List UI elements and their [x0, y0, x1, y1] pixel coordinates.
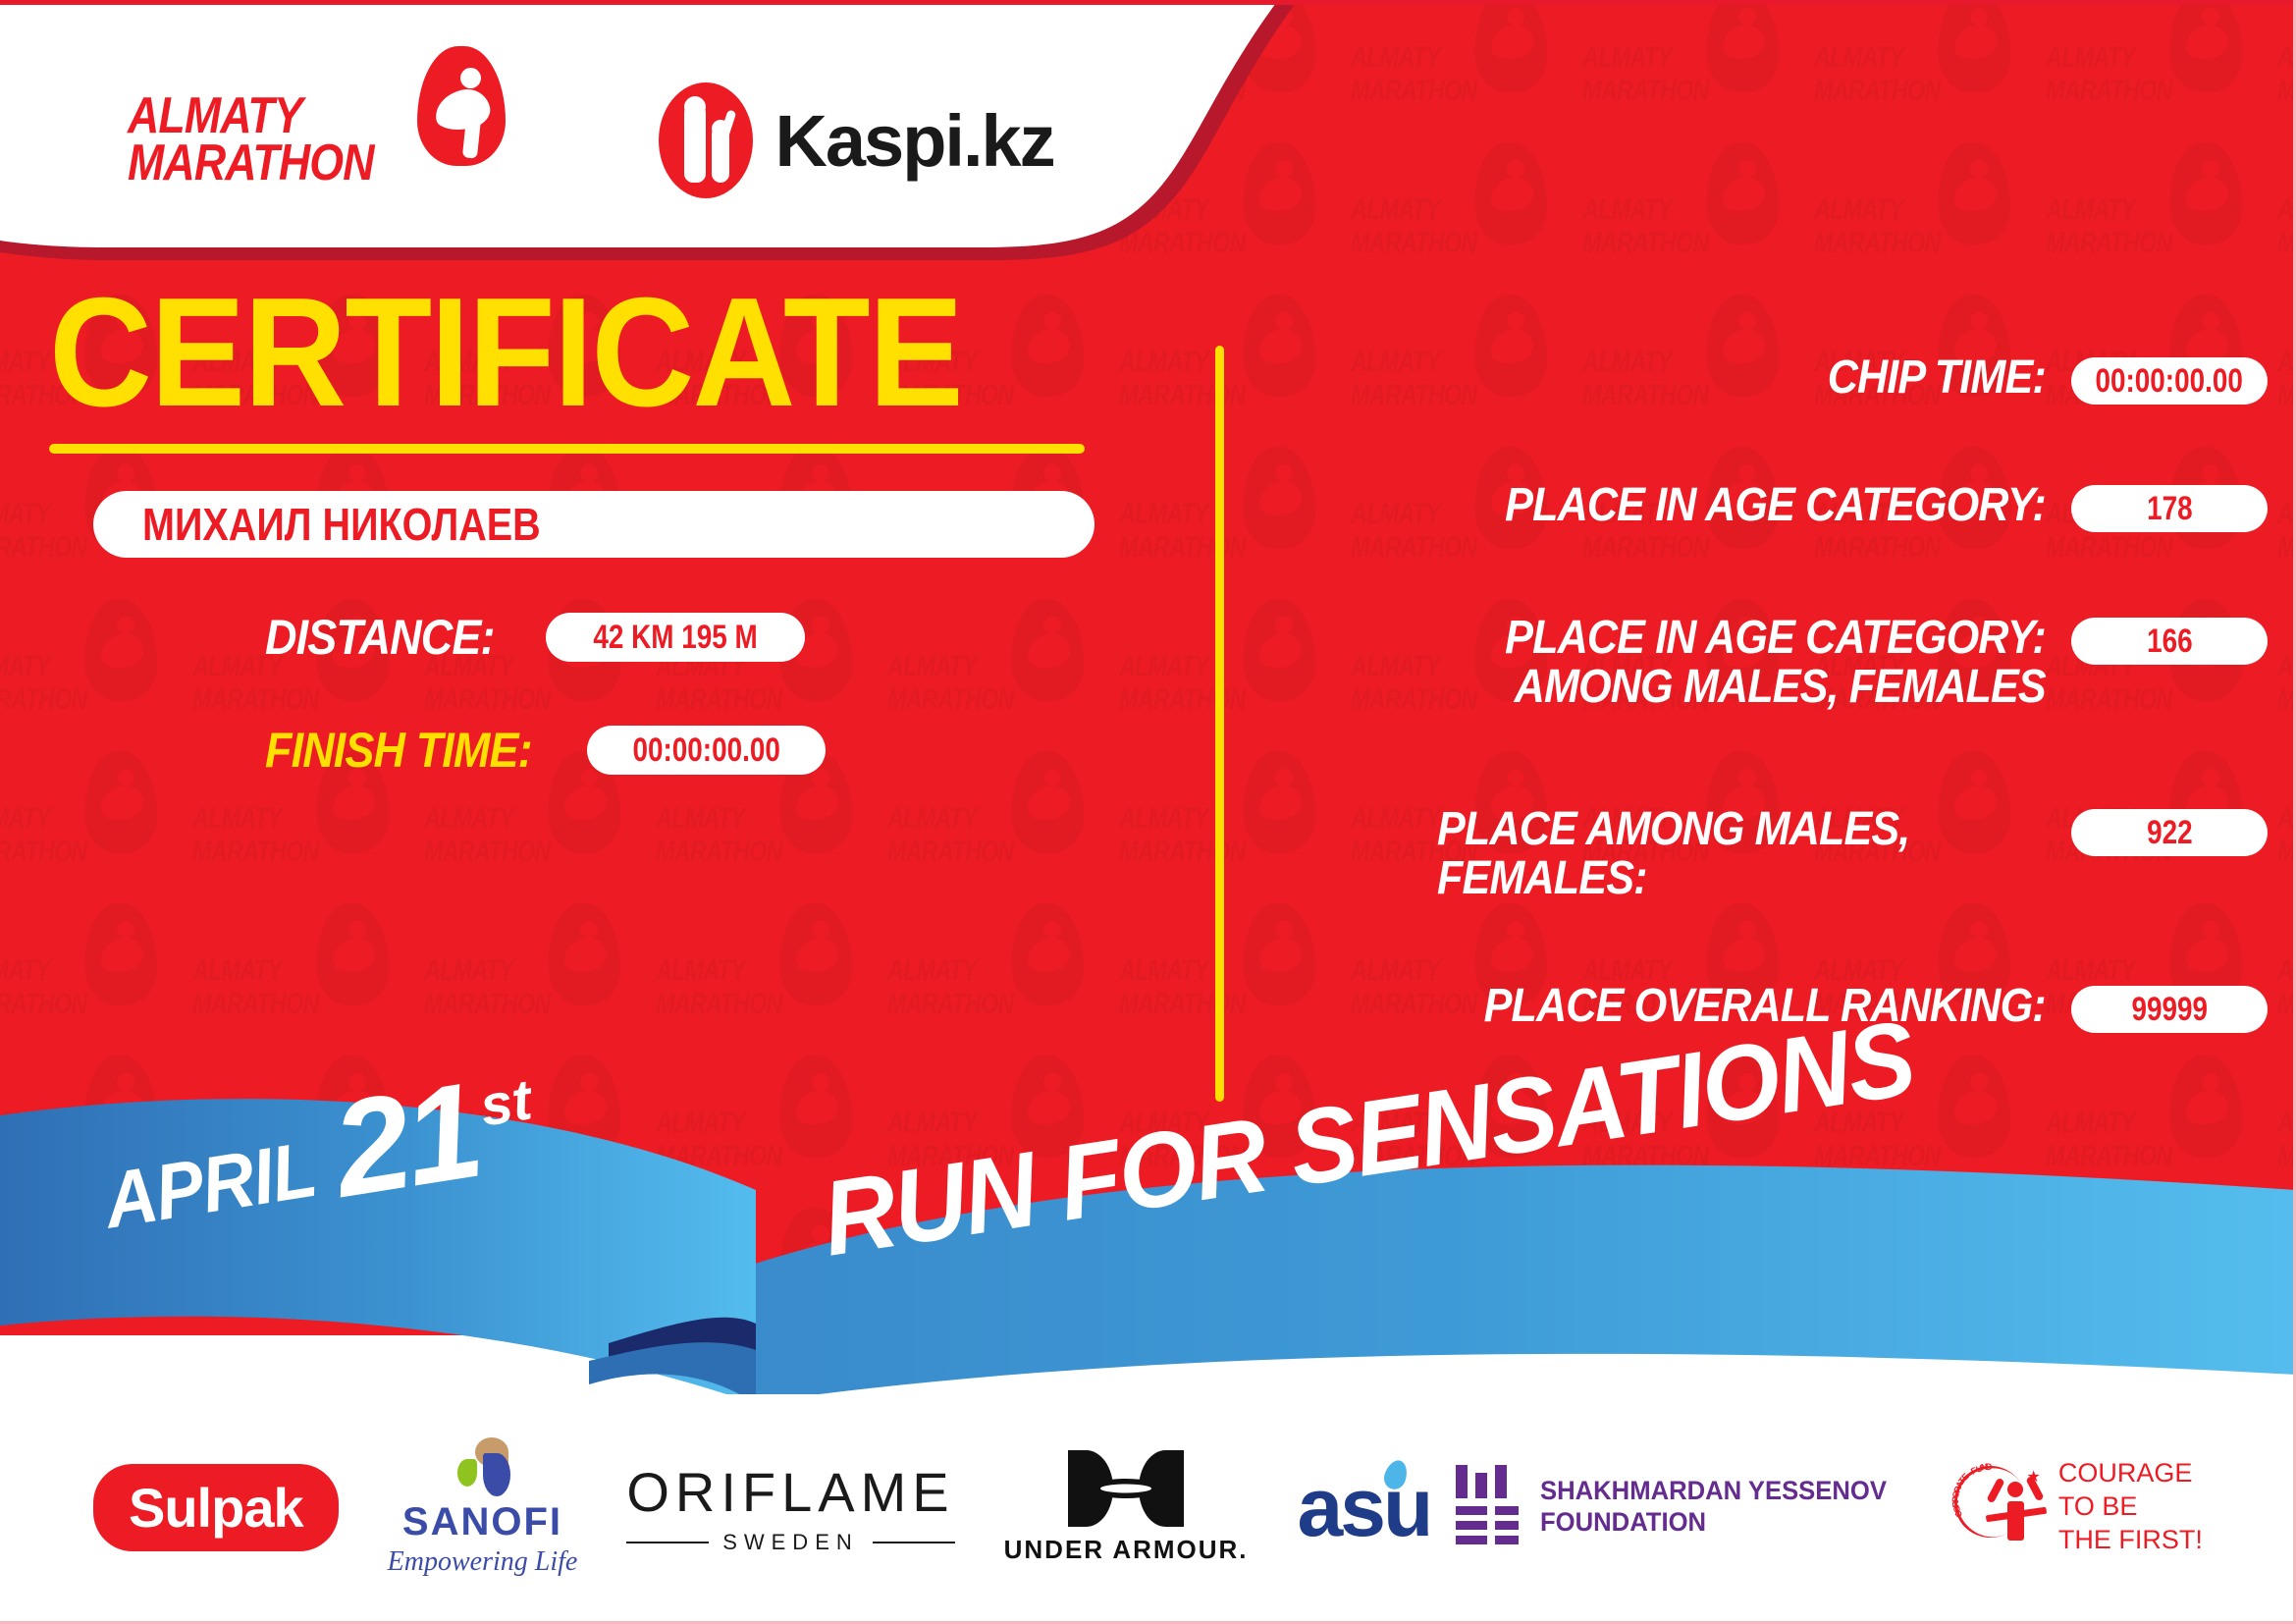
- oriflame-rule-left: [626, 1542, 709, 1543]
- chip-time-label: CHIP TIME:: [1828, 353, 2046, 403]
- almaty-marathon-logo: ALMATY MARATHON: [128, 93, 413, 188]
- place-age-category-label: PLACE IN AGE CATEGORY:: [1505, 481, 2046, 530]
- sponsor-sulpak: Sulpak: [93, 1464, 339, 1551]
- certificate-left-panel: CERTIFICATE МИХАИЛ НИКОЛАЕВ DISTANCE: 42…: [0, 295, 1178, 1080]
- sponsor-under-armour: UNDER ARMOUR.: [1004, 1450, 1249, 1565]
- distance-label: DISTANCE:: [265, 609, 495, 666]
- watermark-tile: ALMATYMARATHON: [1582, 0, 1789, 137]
- kaspi-people-icon: [659, 82, 753, 198]
- athlete-name-value: МИХАИЛ НИКОЛАЕВ: [142, 498, 541, 551]
- finish-time-value: 00:00:00.00: [632, 731, 779, 770]
- place-age-category-value: 178: [2147, 490, 2193, 528]
- chip-time-value-pill: 00:00:00.00: [2071, 357, 2268, 405]
- place-age-category-gender-row: PLACE IN AGE CATEGORY: AMONG MALES, FEMA…: [1266, 614, 2268, 713]
- yessenov-bars-icon: [1456, 1465, 1521, 1549]
- watermark-tile: ALMATYMARATHON: [1814, 0, 2020, 137]
- under-armour-icon: [1068, 1450, 1184, 1527]
- athlete-name-field: МИХАИЛ НИКОЛАЕВ: [93, 491, 1095, 558]
- oriflame-wordmark: ORIFLAME: [626, 1460, 954, 1524]
- courage-fund-wordmark: COURAGE TO BE THE FIRST!: [2058, 1457, 2203, 1556]
- page-title: CERTIFICATE: [49, 275, 962, 430]
- kaspi-wordmark: Kaspi.kz: [774, 99, 1053, 183]
- event-day-ordinal: st: [476, 1066, 536, 1139]
- watermark-tile: ALMATYMARATHON: [2046, 142, 2252, 290]
- place-age-category-gender-value: 166: [2147, 623, 2193, 661]
- place-age-category-row: PLACE IN AGE CATEGORY: 178: [1266, 481, 2268, 532]
- place-overall-ranking-value: 99999: [2131, 991, 2208, 1029]
- watermark-tile: ALMATYMARATHON: [1814, 142, 2020, 290]
- certificate-page: ALMATYMARATHONALMATYMARATHONALMATYMARATH…: [0, 0, 2296, 1624]
- sponsor-courage-fund: CORPORATE FUND ★ COURAGE TO BE THE FIRST…: [1954, 1457, 2203, 1556]
- finish-time-row: FINISH TIME: 00:00:00.00: [265, 722, 826, 779]
- sponsor-oriflame: ORIFLAME SWEDEN: [626, 1460, 954, 1555]
- distance-value-pill: 42 KM 195 M: [546, 613, 805, 662]
- place-overall-ranking-value-pill: 99999: [2071, 986, 2268, 1033]
- yessenov-wordmark: SHAKHMARDAN YESSENOV FOUNDATION: [1540, 1476, 1887, 1539]
- place-age-category-gender-label: PLACE IN AGE CATEGORY: AMONG MALES, FEMA…: [1505, 614, 2046, 713]
- title-underline-divider: [49, 444, 1085, 454]
- chip-time-row: CHIP TIME: 00:00:00.00: [1266, 353, 2268, 405]
- vertical-divider: [1215, 346, 1224, 1102]
- courage-fund-icon: CORPORATE FUND ★: [1954, 1462, 2045, 1552]
- event-day: 21: [326, 1072, 485, 1210]
- asu-wordmark: asu: [1298, 1466, 1431, 1548]
- finish-time-value-pill: 00:00:00.00: [587, 726, 826, 775]
- place-among-gender-row: PLACE AMONG MALES, FEMALES: 922: [1266, 805, 2268, 904]
- place-among-gender-label: PLACE AMONG MALES, FEMALES:: [1437, 805, 1985, 904]
- place-among-gender-value: 922: [2147, 814, 2193, 852]
- place-age-category-gender-value-pill: 166: [2071, 618, 2268, 665]
- finish-time-label: FINISH TIME:: [265, 722, 532, 779]
- place-among-gender-value-pill: 922: [2071, 809, 2268, 856]
- under-armour-wordmark: UNDER ARMOUR.: [1004, 1535, 1249, 1565]
- oriflame-sub: SWEDEN: [722, 1530, 859, 1555]
- sponsor-sanofi: SANOFI Empowering Life: [388, 1437, 578, 1578]
- chip-time-value: 00:00:00.00: [2096, 362, 2243, 401]
- header-logos: ALMATY MARATHON Kaspi.kz: [0, 3, 1178, 278]
- almaty-marathon-logo-line2: MARATHON: [128, 140, 374, 188]
- watermark-tile: ALMATYMARATHON: [2046, 0, 2252, 137]
- runner-droplet-icon: [417, 46, 506, 166]
- sulpak-wordmark: Sulpak: [129, 1477, 303, 1539]
- results-panel: CHIP TIME: 00:00:00.00 PLACE IN AGE CATE…: [1266, 353, 2268, 1080]
- sponsor-asu: asu: [1298, 1466, 1408, 1548]
- watermark-tile: ALMATYMARATHON: [1582, 142, 1789, 290]
- oriflame-rule-right: [873, 1542, 955, 1543]
- sanofi-tagline: Empowering Life: [388, 1546, 578, 1578]
- sponsor-bar: Sulpak SANOFI Empowering Life ORIFLAME S…: [0, 1404, 2296, 1610]
- distance-value: 42 KM 195 M: [593, 619, 757, 657]
- sanofi-wordmark: SANOFI: [402, 1500, 562, 1544]
- sanofi-mark-icon: [452, 1437, 512, 1498]
- almaty-marathon-logo-line1: ALMATY: [128, 93, 374, 140]
- place-age-category-value-pill: 178: [2071, 485, 2268, 532]
- top-border-rule: [0, 0, 2296, 5]
- kaspi-logo: Kaspi.kz: [659, 82, 1053, 198]
- sponsor-yessenov-foundation: SHAKHMARDAN YESSENOV FOUNDATION: [1456, 1465, 1905, 1549]
- distance-row: DISTANCE: 42 KM 195 M: [265, 609, 805, 666]
